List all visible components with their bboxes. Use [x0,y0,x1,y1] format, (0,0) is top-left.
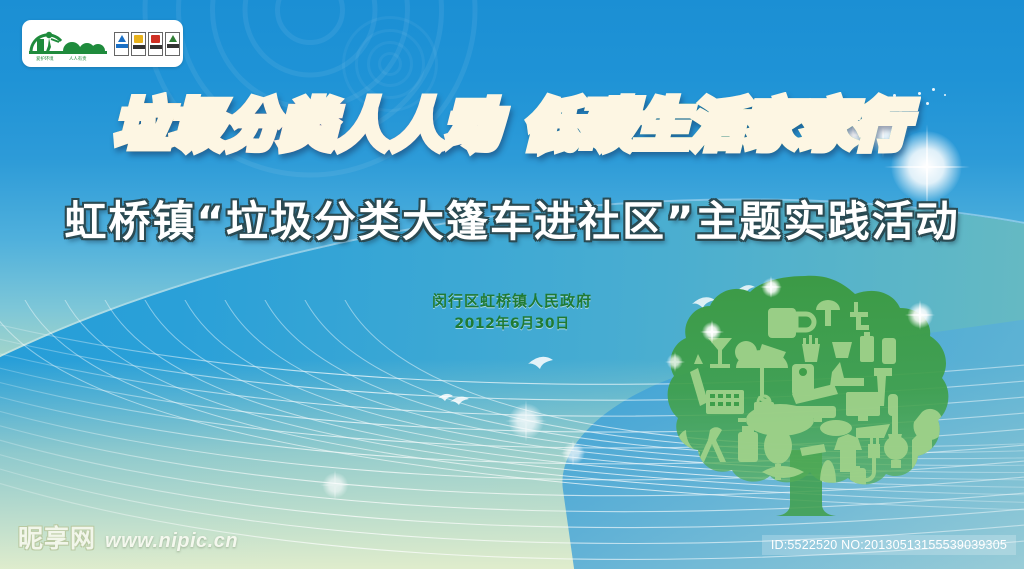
organizer-text: 闵行区虹桥镇人民政府 [0,290,1024,311]
kitchen-bin-icon [165,32,180,56]
recyclable-bin-icon [114,32,129,56]
site-watermark[interactable]: 昵享网 www.nipic.cn [18,519,238,555]
svg-text:人人有责: 人人有责 [69,55,87,62]
headline-segment-1: 垃圾分类人人动 [115,99,500,153]
flying-bird-silhouettes [420,350,640,440]
watermark-brand-cn: 昵享网 [18,519,96,555]
event-date: 2012年6月30日 [0,313,1024,333]
poster-canvas: 爱护环境 人人有责 [0,0,1024,569]
headline-segment-2: 低碳生活家家行 [524,99,909,153]
waste-sorting-logo: 爱护环境 人人有责 [22,20,183,67]
image-id-tag: ID:5522520 NO:20130513155539039305 [762,535,1016,555]
headline: 垃圾分类人人动低碳生活家家行 [0,99,1024,153]
residual-bin-icon [148,32,163,56]
bin-icon-row [114,32,180,56]
logo-green-emblem: 爱护环境 人人有责 [27,25,109,62]
watermark-url: www.nipic.cn [105,530,238,555]
poster-subtitle: 虹桥镇“垃圾分类大篷车进社区”主题实践活动 [0,199,1024,245]
hazardous-bin-icon [131,32,146,56]
svg-text:爱护环境: 爱护环境 [36,55,54,62]
